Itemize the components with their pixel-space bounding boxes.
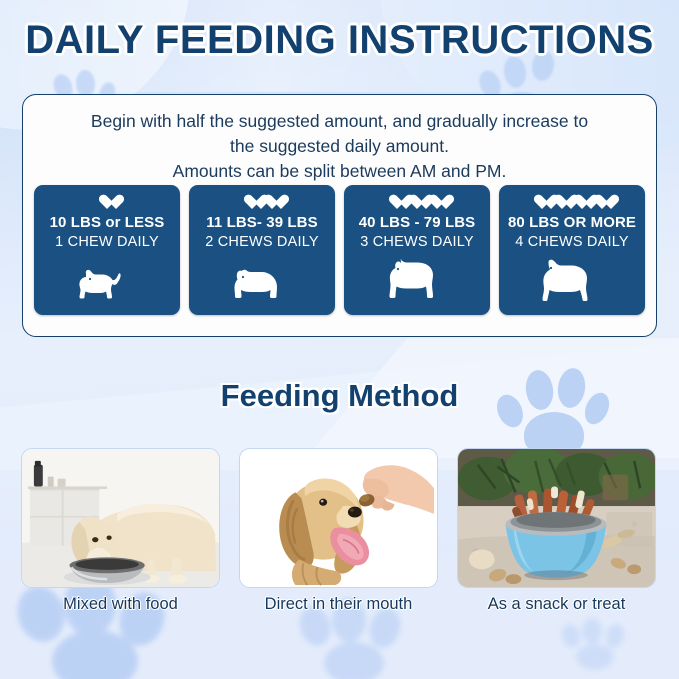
heart-icon xyxy=(264,194,281,211)
bulldog-silhouette-icon xyxy=(231,257,293,301)
dosage-amount: 1 CHEW DAILY xyxy=(55,233,159,252)
feeding-method-caption: Mixed with food xyxy=(21,595,220,614)
heart-icon xyxy=(409,194,426,211)
heart-rating xyxy=(534,192,611,212)
dosage-weight-range: 80 LBS OR MORE xyxy=(508,214,636,232)
feeding-method-caption: Direct in their mouth xyxy=(239,595,438,614)
dosage-weight-range: 11 LBS- 39 LBS xyxy=(206,214,317,232)
dosage-amount: 3 CHEWS DAILY xyxy=(360,233,474,252)
heart-icon xyxy=(554,194,571,211)
dosage-weight-range: 10 LBS or LESS xyxy=(50,214,165,232)
heart-icon xyxy=(99,194,116,211)
heart-icon xyxy=(534,194,551,211)
heart-icon xyxy=(389,194,406,211)
heart-rating xyxy=(99,192,116,212)
dosage-weight-range: 40 LBS - 79 LBS xyxy=(359,214,476,232)
hand-feeding-treat-to-cocker-spaniel-photo xyxy=(239,448,438,588)
feeding-instructions-panel: Begin with half the suggested amount, an… xyxy=(22,94,657,337)
feeding-method-item: Direct in their mouth xyxy=(239,448,438,614)
instructions-text: Begin with half the suggested amount, an… xyxy=(41,109,638,184)
section-title-feeding-method: Feeding Method xyxy=(0,378,679,414)
instructions-line-3: Amounts can be split between AM and PM. xyxy=(47,159,632,184)
dosage-card: 10 LBS or LESS 1 CHEW DAILY xyxy=(34,185,180,315)
dosage-card: 40 LBS - 79 LBS 3 CHEWS DAILY xyxy=(344,185,490,315)
golden-retriever-eating-from-steel-bowl-photo xyxy=(21,448,220,588)
dosage-card: 11 LBS- 39 LBS 2 CHEWS DAILY xyxy=(189,185,335,315)
feeding-method-item: As a snack or treat xyxy=(457,448,656,614)
dosage-card-list: 10 LBS or LESS 1 CHEW DAILY 11 LBS- 39 L… xyxy=(34,185,645,315)
blue-bowl-of-chew-treats-photo xyxy=(457,448,656,588)
infographic-page: DAILY FEEDING INSTRUCTIONS Begin with ha… xyxy=(0,0,679,679)
paw-print-icon xyxy=(560,618,640,674)
heart-icon xyxy=(594,194,611,211)
dosage-card: 80 LBS OR MORE 4 CHEWS DAILY xyxy=(499,185,645,315)
page-title: DAILY FEEDING INSTRUCTIONS xyxy=(0,18,679,63)
heart-rating xyxy=(389,192,446,212)
feeding-method-list: Mixed with food xyxy=(21,448,658,614)
shepherd-silhouette-icon xyxy=(540,257,604,301)
instructions-line-1: Begin with half the suggested amount, an… xyxy=(47,109,632,134)
feeding-method-caption: As a snack or treat xyxy=(457,595,656,614)
heart-icon xyxy=(244,194,261,211)
instructions-line-2: the suggested daily amount. xyxy=(47,134,632,159)
dosage-amount: 4 CHEWS DAILY xyxy=(515,233,629,252)
small-dog-silhouette-icon xyxy=(77,257,137,301)
heart-rating xyxy=(244,192,281,212)
heart-icon xyxy=(429,194,446,211)
rottweiler-silhouette-icon xyxy=(386,257,448,301)
feeding-method-item: Mixed with food xyxy=(21,448,220,614)
heart-icon xyxy=(574,194,591,211)
dosage-amount: 2 CHEWS DAILY xyxy=(205,233,319,252)
